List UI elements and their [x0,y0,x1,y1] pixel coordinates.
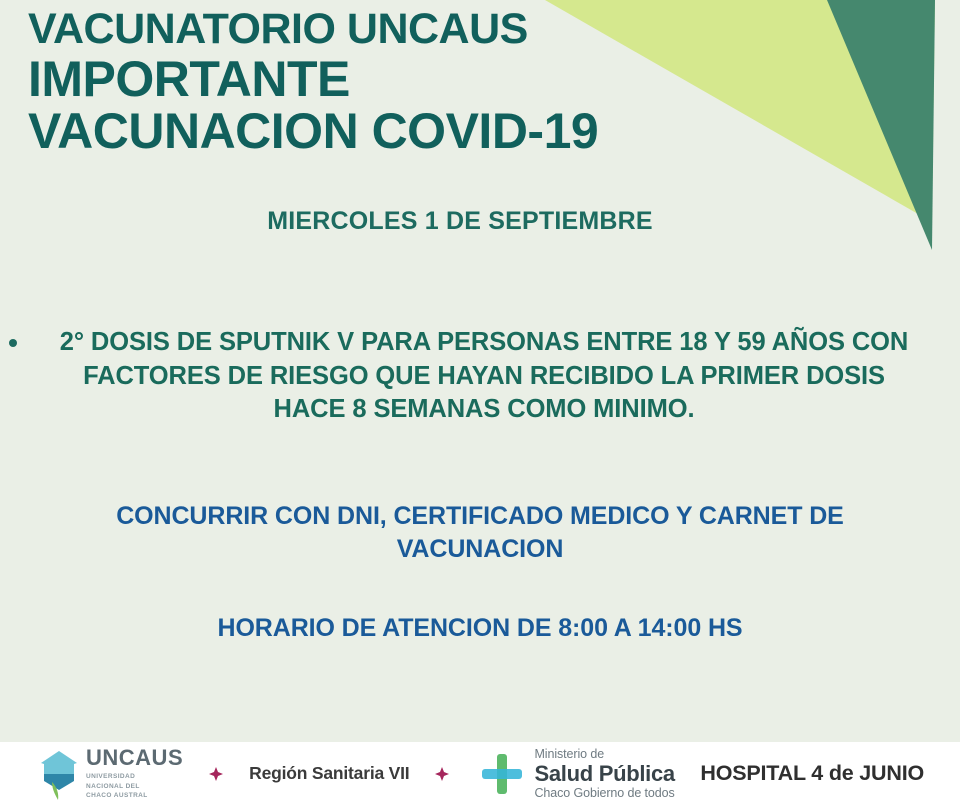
headline-line-2: IMPORTANTE [28,54,808,105]
uncaus-subtitle-line-3: CHACO AUSTRAL [86,791,183,800]
opening-hours: HORARIO DE ATENCION DE 8:00 A 14:00 HS [0,614,960,643]
eligibility-line-3: HACE 8 SEMANAS COMO MINIMO. [30,393,938,427]
attendance-instructions: CONCURRIR CON DNI, CERTIFICADO MEDICO Y … [0,500,960,643]
ministry-logo: Ministerio de Salud Pública Chaco Gobier… [479,748,674,799]
headline-line-1: VACUNATORIO UNCAUS [28,8,808,52]
eligibility-line-1: 2° DOSIS DE SPUTNIK V PARA PERSONAS ENTR… [30,326,938,360]
eligibility-line-2: FACTORES DE RIESGO QUE HAYAN RECIBIDO LA… [30,360,938,394]
magenta-diamond-separator-icon-2 [435,767,449,781]
uncaus-subtitle-line-1: UNIVERSIDAD [86,772,183,781]
eligibility-text: 2° DOSIS DE SPUTNIK V PARA PERSONAS ENTR… [30,326,938,427]
ministry-line-bottom: Chaco Gobierno de todos [534,787,674,800]
ministry-line-top: Ministerio de [534,748,674,761]
bullet-dot-icon [9,339,17,347]
ministry-line-main: Salud Pública [534,762,674,785]
documents-line-2: VACUNACION [397,535,564,563]
documents-required: CONCURRIR CON DNI, CERTIFICADO MEDICO Y … [80,500,880,566]
page-title: VACUNATORIO UNCAUS IMPORTANTE VACUNACION… [28,8,808,157]
uncaus-subtitle-line-2: NACIONAL DEL [86,782,183,791]
magenta-diamond-separator-icon [209,767,223,781]
headline-line-3: VACUNACION COVID-19 [28,106,808,157]
uncaus-name: UNCAUS [86,747,183,769]
vaccination-poster: VACUNATORIO UNCAUS IMPORTANTE VACUNACION… [0,0,960,806]
event-date: MIERCOLES 1 DE SEPTIEMBRE [0,207,920,236]
documents-line-1: CONCURRIR CON DNI, CERTIFICADO MEDICO Y … [116,502,844,530]
sponsor-footer: UNCAUS UNIVERSIDAD NACIONAL DEL CHACO AU… [0,742,960,806]
uncaus-house-logo-icon [38,748,80,800]
uncaus-logo: UNCAUS UNIVERSIDAD NACIONAL DEL CHACO AU… [38,747,183,800]
eligibility-requirement: 2° DOSIS DE SPUTNIK V PARA PERSONAS ENTR… [0,326,960,427]
uncaus-subtitle: UNIVERSIDAD NACIONAL DEL CHACO AUSTRAL [86,772,183,800]
region-sanitaria-label: Región Sanitaria VII [249,763,409,784]
health-cross-icon [479,751,525,797]
hospital-name: HOSPITAL 4 de JUNIO [700,761,940,786]
